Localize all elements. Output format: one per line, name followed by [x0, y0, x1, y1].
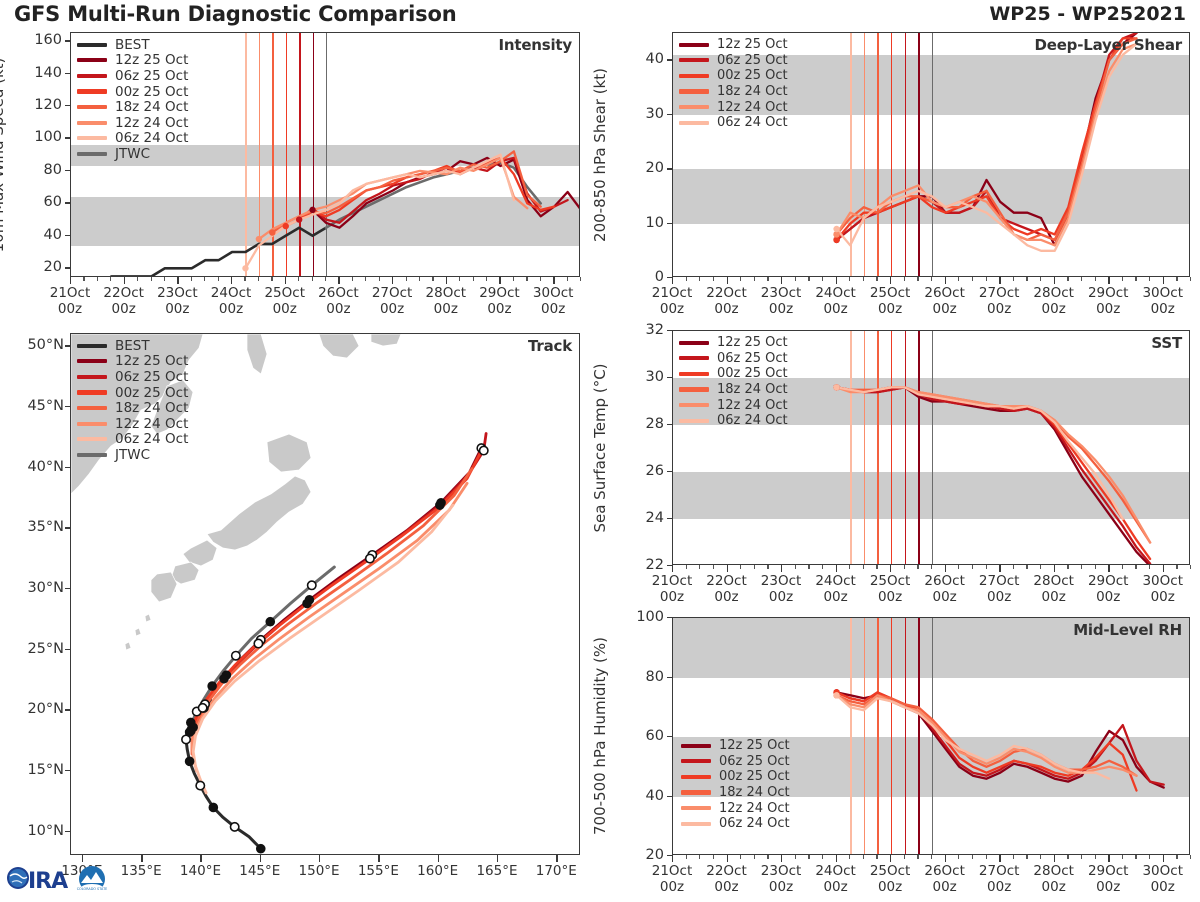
x-tick-label: 30Oct00z [1142, 864, 1183, 896]
x-tick-mark [1054, 855, 1055, 862]
legend-color-swatch [77, 121, 107, 125]
legend-color-swatch [77, 43, 107, 47]
track-line [190, 453, 481, 735]
x-minor-tick [931, 277, 932, 281]
x-minor-tick [567, 277, 568, 281]
legend-entry: 06z 25 Oct [679, 351, 788, 367]
x-minor-tick [526, 277, 527, 281]
legend-label: 12z 25 Oct [115, 52, 188, 68]
legend-label: 06z 25 Oct [719, 754, 790, 769]
legend-label: 06z 24 Oct [717, 115, 788, 130]
legend-entry: 00z 25 Oct [77, 84, 188, 100]
legend-entry: 06z 24 Oct [77, 432, 188, 448]
x-minor-tick [1081, 855, 1082, 859]
x-tick-label: 25Oct00z [870, 574, 911, 606]
legend-color-swatch [77, 105, 107, 109]
legend-color-swatch [681, 775, 711, 779]
track-marker-00z [266, 618, 274, 626]
legend-label: 18z 24 Oct [115, 400, 188, 416]
x-minor-tick [958, 565, 959, 569]
cira-logo: IRA COLORADO STATE [4, 858, 108, 898]
x-minor-tick [917, 277, 918, 281]
sst-panel-label: SST [1151, 334, 1182, 352]
x-minor-tick [986, 277, 987, 281]
x-tick-mark [727, 277, 728, 284]
legend-entry: 18z 24 Oct [679, 84, 788, 100]
legend-entry: 12z 25 Oct [681, 738, 790, 754]
x-minor-tick [740, 277, 741, 281]
x-minor-tick [83, 277, 84, 281]
x-tick-label: 30Oct00z [1142, 574, 1183, 606]
x-tick-mark [836, 565, 837, 572]
x-minor-tick [904, 565, 905, 569]
x-tick-label: 28Oct00z [1033, 574, 1074, 606]
x-minor-tick [432, 277, 433, 281]
y-axis-label: 200-850 hPa Shear (kt) [591, 68, 609, 242]
x-minor-tick [406, 277, 407, 281]
legend-label: 06z 24 Oct [717, 413, 788, 428]
track-plot-area: Track BEST12z 25 Oct06z 25 Oct00z 25 Oct… [70, 333, 580, 855]
legend-entry: 06z 25 Oct [77, 369, 188, 385]
track-marker-00z [185, 757, 193, 765]
x-minor-tick [958, 855, 959, 859]
x-tick-label: 140°E [180, 864, 221, 880]
legend-color-swatch [77, 390, 107, 394]
legend-label: 00z 25 Oct [717, 366, 788, 381]
x-tick-label: 26Oct00z [924, 286, 965, 318]
x-tick-mark [999, 565, 1000, 572]
x-tick-label: 23Oct00z [157, 286, 198, 318]
x-tick-mark [285, 277, 286, 284]
legend-entry: 00z 25 Oct [681, 769, 790, 785]
x-minor-tick [917, 565, 918, 569]
x-minor-tick [767, 855, 768, 859]
rh-legend: 12z 25 Oct06z 25 Oct00z 25 Oct18z 24 Oct… [681, 738, 790, 832]
legend-label: 12z 24 Oct [719, 801, 790, 816]
y-tick-label: 80 [18, 162, 62, 178]
x-minor-tick [686, 565, 687, 569]
legend-color-swatch [679, 419, 709, 423]
data-line [837, 44, 1137, 251]
x-tick-mark [200, 855, 201, 862]
x-minor-tick [325, 277, 326, 281]
x-tick-label: 22Oct00z [706, 864, 747, 896]
track-marker-00z [208, 682, 216, 690]
y-tick-label: 32 [620, 322, 664, 338]
x-minor-tick [204, 277, 205, 281]
legend-color-swatch [77, 359, 107, 363]
legend-label: 06z 25 Oct [115, 68, 188, 84]
legend-entry: 06z 25 Oct [679, 53, 788, 69]
track-line [193, 505, 453, 793]
legend-color-swatch [679, 356, 709, 360]
x-tick-label: 29Oct00z [1088, 574, 1129, 606]
x-tick-mark [890, 855, 891, 862]
x-tick-label: 29Oct00z [1088, 286, 1129, 318]
x-tick-label: 26Oct00z [924, 864, 965, 896]
x-tick-label: 28Oct00z [1033, 864, 1074, 896]
x-minor-tick [191, 277, 192, 281]
x-tick-label: 28Oct00z [426, 286, 467, 318]
x-minor-tick [904, 277, 905, 281]
y-tick-label: 40 [620, 788, 664, 804]
cira-logo-graphic: IRA COLORADO STATE [4, 858, 108, 898]
x-minor-tick [795, 855, 796, 859]
rh-plot-area: Mid-Level RH 12z 25 Oct06z 25 Oct00z 25 … [672, 617, 1190, 855]
legend-entry: 12z 24 Oct [679, 397, 788, 413]
y-tick-label: 20 [18, 259, 62, 275]
x-minor-tick [1095, 565, 1096, 569]
x-minor-tick [244, 277, 245, 281]
x-tick-mark [672, 277, 673, 284]
legend-entry: BEST [77, 338, 188, 354]
legend-entry: 12z 24 Oct [77, 416, 188, 432]
x-minor-tick [1122, 277, 1123, 281]
x-tick-mark [231, 277, 232, 284]
x-minor-tick [972, 565, 973, 569]
x-tick-mark [836, 855, 837, 862]
legend-color-swatch [679, 43, 709, 47]
x-tick-label: 145°E [239, 864, 280, 880]
x-minor-tick [271, 277, 272, 281]
x-minor-tick [1013, 277, 1014, 281]
x-tick-label: 21Oct00z [652, 286, 693, 318]
x-tick-label: 24Oct00z [815, 864, 856, 896]
data-line [837, 692, 1164, 787]
legend-color-swatch [681, 759, 711, 763]
x-minor-tick [137, 277, 138, 281]
init-marker [309, 207, 315, 213]
x-tick-mark [553, 277, 554, 284]
x-tick-mark [177, 277, 178, 284]
legend-color-swatch [77, 89, 107, 93]
x-tick-mark [446, 277, 447, 284]
x-minor-tick [767, 277, 768, 281]
x-minor-tick [97, 277, 98, 281]
x-minor-tick [849, 855, 850, 859]
x-minor-tick [419, 277, 420, 281]
init-marker [833, 231, 839, 237]
track-marker-12z [308, 581, 316, 589]
rh-panel-label: Mid-Level RH [1073, 621, 1182, 639]
track-line [192, 483, 467, 771]
x-minor-tick [958, 277, 959, 281]
y-tick-label: 160 [18, 32, 62, 48]
x-tick-label: 26Oct00z [318, 286, 359, 318]
legend-label: 06z 25 Oct [717, 351, 788, 366]
x-tick-label: 24Oct00z [815, 286, 856, 318]
track-marker-12z [196, 781, 204, 789]
init-marker [269, 229, 275, 235]
x-tick-mark [1163, 277, 1164, 284]
track-marker-00z [220, 675, 228, 683]
legend-color-swatch [77, 375, 107, 379]
x-minor-tick [1176, 855, 1177, 859]
init-marker [833, 692, 839, 698]
legend-color-swatch [77, 406, 107, 410]
x-tick-label: 135°E [121, 864, 162, 880]
x-tick-mark [338, 277, 339, 284]
x-minor-tick [1026, 855, 1027, 859]
legend-label: 18z 24 Oct [719, 785, 790, 800]
legend-color-swatch [681, 790, 711, 794]
y-tick-label: 50°N [8, 337, 64, 353]
x-minor-tick [1013, 565, 1014, 569]
sst-panel: SST 12z 25 Oct06z 25 Oct00z 25 Oct18z 24… [672, 330, 1190, 565]
legend-color-swatch [77, 344, 107, 348]
x-tick-label: 25Oct00z [870, 286, 911, 318]
x-minor-tick [1095, 277, 1096, 281]
shear-legend: 12z 25 Oct06z 25 Oct00z 25 Oct18z 24 Oct… [679, 37, 788, 131]
rh-panel: Mid-Level RH 12z 25 Oct06z 25 Oct00z 25 … [672, 617, 1190, 855]
x-minor-tick [972, 277, 973, 281]
x-minor-tick [298, 277, 299, 281]
x-minor-tick [713, 855, 714, 859]
data-line [837, 692, 1164, 784]
x-minor-tick [740, 855, 741, 859]
x-minor-tick [1190, 277, 1191, 281]
legend-entry: JTWC [77, 146, 188, 162]
legend-color-swatch [679, 74, 709, 78]
x-minor-tick [808, 855, 809, 859]
legend-entry: 06z 25 Oct [681, 754, 790, 770]
y-tick-label: 60 [18, 194, 62, 210]
x-tick-mark [1163, 855, 1164, 862]
x-minor-tick [1081, 565, 1082, 569]
y-tick-label: 20 [620, 160, 664, 176]
legend-label: BEST [115, 338, 150, 354]
x-minor-tick [352, 277, 353, 281]
track-marker-00z [436, 501, 444, 509]
legend-color-swatch [681, 822, 711, 826]
x-tick-mark [392, 277, 393, 284]
x-tick-mark [499, 277, 500, 284]
legend-label: 00z 25 Oct [717, 68, 788, 83]
track-panel: Track BEST12z 25 Oct06z 25 Oct00z 25 Oct… [70, 333, 580, 855]
x-minor-tick [459, 277, 460, 281]
x-minor-tick [1095, 855, 1096, 859]
intensity-panel: Intensity BEST12z 25 Oct06z 25 Oct00z 25… [70, 32, 580, 277]
x-minor-tick [580, 277, 581, 281]
x-tick-mark [124, 277, 125, 284]
sst-plot-area: SST 12z 25 Oct06z 25 Oct00z 25 Oct18z 24… [672, 330, 1190, 565]
legend-color-swatch [77, 437, 107, 441]
legend-color-swatch [679, 105, 709, 109]
legend-entry: 12z 25 Oct [77, 53, 188, 69]
x-minor-tick [1176, 565, 1177, 569]
x-minor-tick [808, 277, 809, 281]
legend-entry: 06z 24 Oct [77, 131, 188, 147]
track-marker-00z [209, 803, 217, 811]
x-minor-tick [740, 565, 741, 569]
legend-label: 12z 25 Oct [717, 335, 788, 350]
x-tick-mark [70, 277, 71, 284]
legend-entry: 12z 24 Oct [681, 800, 790, 816]
y-tick-label: 30°N [8, 580, 64, 596]
x-tick-label: 22Oct00z [103, 286, 144, 318]
x-minor-tick [1067, 565, 1068, 569]
legend-entry: 12z 25 Oct [77, 354, 188, 370]
x-tick-mark [890, 565, 891, 572]
y-tick-label: 40 [620, 51, 664, 67]
legend-label: 18z 24 Oct [717, 382, 788, 397]
track-marker-12z [232, 651, 240, 659]
x-minor-tick [972, 855, 973, 859]
data-line [837, 44, 1137, 245]
x-tick-label: 27Oct00z [979, 286, 1020, 318]
x-minor-tick [686, 855, 687, 859]
y-tick-label: 100 [18, 129, 62, 145]
y-tick-label: 25°N [8, 641, 64, 657]
x-tick-mark [378, 855, 379, 862]
x-minor-tick [754, 277, 755, 281]
x-minor-tick [863, 565, 864, 569]
x-tick-label: 27Oct00z [979, 864, 1020, 896]
track-marker-12z [254, 639, 262, 647]
x-minor-tick [365, 277, 366, 281]
x-minor-tick [795, 277, 796, 281]
x-tick-mark [141, 855, 142, 862]
init-marker [256, 236, 262, 242]
x-minor-tick [863, 855, 864, 859]
x-minor-tick [849, 277, 850, 281]
x-tick-label: 25Oct00z [264, 286, 305, 318]
x-tick-label: 21Oct00z [50, 286, 91, 318]
x-minor-tick [849, 565, 850, 569]
y-tick-label: 0 [620, 269, 664, 285]
x-tick-mark [438, 855, 439, 862]
x-minor-tick [795, 565, 796, 569]
legend-label: 06z 24 Oct [719, 816, 790, 831]
x-tick-label: 25Oct00z [870, 864, 911, 896]
y-tick-label: 10 [620, 215, 664, 231]
x-minor-tick [258, 277, 259, 281]
x-tick-mark [945, 855, 946, 862]
legend-color-swatch [77, 152, 107, 156]
legend-entry: 06z 24 Oct [681, 816, 790, 832]
x-tick-mark [1108, 855, 1109, 862]
x-tick-mark [319, 855, 320, 862]
x-tick-mark [945, 277, 946, 284]
x-minor-tick [699, 277, 700, 281]
legend-label: 18z 24 Oct [115, 99, 188, 115]
x-tick-mark [1054, 565, 1055, 572]
y-tick-label: 120 [18, 97, 62, 113]
x-minor-tick [1149, 565, 1150, 569]
track-marker-12z [230, 823, 238, 831]
x-minor-tick [218, 277, 219, 281]
x-minor-tick [1013, 855, 1014, 859]
x-minor-tick [1040, 565, 1041, 569]
legend-label: 12z 24 Oct [115, 115, 188, 131]
x-minor-tick [686, 277, 687, 281]
x-tick-label: 28Oct00z [1033, 286, 1074, 318]
x-tick-mark [999, 277, 1000, 284]
x-tick-mark [781, 565, 782, 572]
shear-panel-label: Deep-Layer Shear [1034, 36, 1182, 54]
y-tick-label: 140 [18, 65, 62, 81]
x-tick-label: 22Oct00z [706, 574, 747, 606]
x-minor-tick [767, 565, 768, 569]
legend-color-swatch [681, 744, 711, 748]
x-minor-tick [486, 277, 487, 281]
init-marker [833, 237, 839, 243]
x-tick-mark [672, 565, 673, 572]
storm-id-title: WP25 - WP252021 [989, 3, 1186, 25]
x-tick-label: 21Oct00z [652, 574, 693, 606]
legend-label: JTWC [115, 447, 150, 463]
legend-label: BEST [115, 37, 150, 53]
y-tick-label: 40 [18, 227, 62, 243]
y-tick-label: 24 [620, 510, 664, 526]
x-tick-label: 24Oct00z [211, 286, 252, 318]
legend-color-swatch [679, 121, 709, 125]
legend-entry: 18z 24 Oct [77, 400, 188, 416]
x-tick-label: 26Oct00z [924, 574, 965, 606]
y-tick-label: 28 [620, 416, 664, 432]
track-marker-12z [198, 704, 206, 712]
x-tick-mark [260, 855, 261, 862]
x-minor-tick [110, 277, 111, 281]
legend-entry: 06z 24 Oct [679, 115, 788, 131]
legend-label: 06z 24 Oct [115, 130, 188, 146]
legend-entry: 00z 25 Oct [77, 385, 188, 401]
x-minor-tick [513, 277, 514, 281]
x-tick-label: 29Oct00z [1088, 864, 1129, 896]
x-minor-tick [986, 565, 987, 569]
x-minor-tick [540, 277, 541, 281]
y-tick-label: 35°N [8, 519, 64, 535]
legend-entry: 12z 24 Oct [77, 115, 188, 131]
legend-label: 00z 25 Oct [115, 84, 188, 100]
x-minor-tick [1149, 855, 1150, 859]
track-marker-00z [257, 845, 265, 853]
intensity-legend: BEST12z 25 Oct06z 25 Oct00z 25 Oct18z 24… [77, 37, 188, 162]
x-minor-tick [754, 855, 755, 859]
y-tick-label: 30 [620, 369, 664, 385]
x-tick-mark [945, 565, 946, 572]
init-marker [296, 216, 302, 222]
x-minor-tick [822, 277, 823, 281]
legend-color-swatch [681, 806, 711, 810]
x-minor-tick [164, 277, 165, 281]
legend-color-swatch [679, 58, 709, 62]
x-tick-mark [672, 855, 673, 862]
x-tick-mark [836, 277, 837, 284]
x-minor-tick [1135, 565, 1136, 569]
legend-color-swatch [77, 453, 107, 457]
x-tick-label: 23Oct00z [761, 574, 802, 606]
y-tick-label: 45°N [8, 398, 64, 414]
x-minor-tick [876, 277, 877, 281]
y-tick-label: 20 [620, 847, 664, 863]
y-tick-label: 15°N [8, 762, 64, 778]
shear-panel: Deep-Layer Shear 12z 25 Oct06z 25 Oct00z… [672, 32, 1190, 277]
legend-label: 06z 25 Oct [115, 369, 188, 385]
x-tick-mark [1108, 277, 1109, 284]
y-tick-label: 40°N [8, 459, 64, 475]
x-tick-label: 170°E [536, 864, 577, 880]
y-axis-label: 700-500 hPa Humidity (%) [591, 637, 609, 835]
y-tick-label: 30 [620, 106, 664, 122]
legend-entry: 06z 25 Oct [77, 68, 188, 84]
x-tick-mark [497, 855, 498, 862]
track-marker-12z [480, 446, 488, 454]
x-tick-label: 23Oct00z [761, 864, 802, 896]
legend-entry: BEST [77, 37, 188, 53]
legend-color-swatch [77, 422, 107, 426]
diagnostic-comparison-page: GFS Multi-Run Diagnostic Comparison WP25… [0, 0, 1200, 900]
